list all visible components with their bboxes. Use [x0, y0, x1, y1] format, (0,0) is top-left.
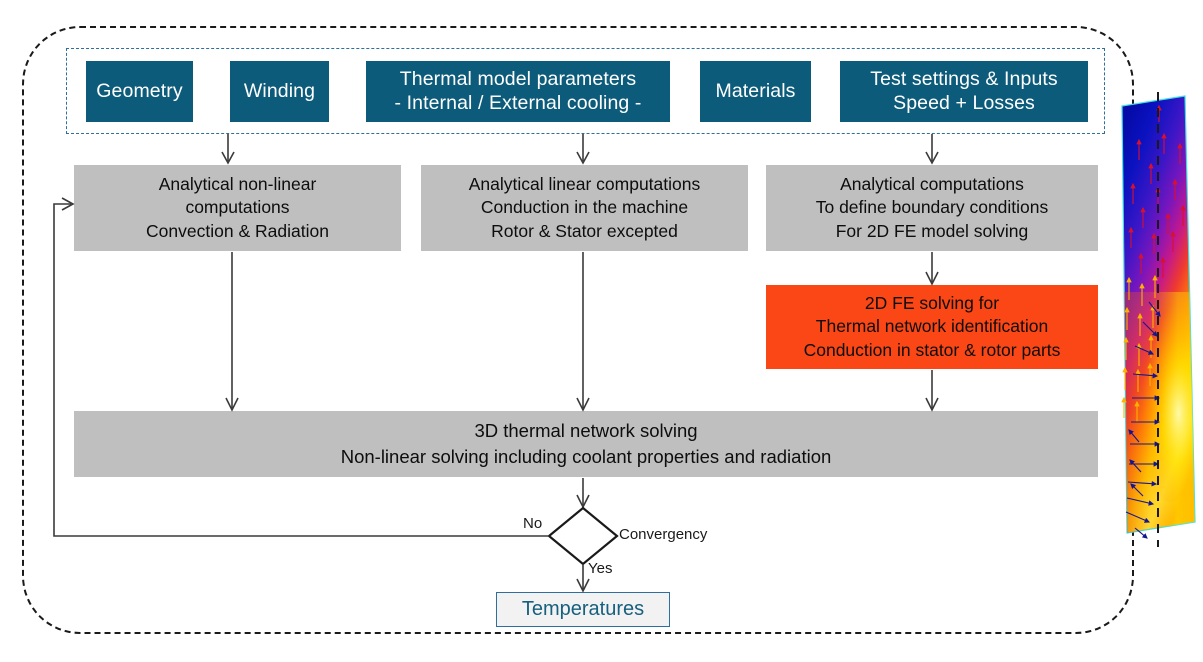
analytical-non-linear-line-1: Analytical non-linear — [159, 173, 317, 196]
analytical-linear-line-2: Conduction in the machine — [481, 196, 688, 219]
decision-label-convergency: Convergency — [619, 526, 707, 543]
analytical-linear-line-3: Rotor & Stator excepted — [491, 220, 678, 243]
diagram-canvas: Geometry Winding Thermal model parameter… — [0, 0, 1203, 662]
fe-solving-line-3: Conduction in stator & rotor parts — [804, 339, 1061, 362]
analytical-boundary-line-1: Analytical computations — [840, 173, 1024, 196]
analytical-boundary-line-2: To define boundary conditions — [816, 196, 1049, 219]
input-box-winding[interactable]: Winding — [230, 61, 329, 122]
fe-solving-line-1: 2D FE solving for — [865, 292, 999, 315]
thermal-model-parameters-line-1: Thermal model parameters — [400, 68, 637, 92]
analytical-boundary-line-3: For 2D FE model solving — [836, 220, 1029, 243]
network-solver-line-1: 3D thermal network solving — [474, 418, 697, 444]
analytical-non-linear-line-3: Convection & Radiation — [146, 220, 329, 243]
input-box-materials[interactable]: Materials — [700, 61, 811, 122]
process-box-analytical-linear[interactable]: Analytical linear computations Conductio… — [421, 165, 748, 251]
input-box-geometry[interactable]: Geometry — [86, 61, 193, 122]
analytical-non-linear-line-2: computations — [185, 196, 289, 219]
test-settings-line-1: Test settings & Inputs — [870, 68, 1058, 92]
input-box-materials-label: Materials — [715, 80, 795, 104]
thermal-model-parameters-line-2: - Internal / External cooling - — [395, 92, 642, 116]
result-box-temperatures-label: Temperatures — [522, 598, 644, 621]
process-box-analytical-non-linear[interactable]: Analytical non-linear computations Conve… — [74, 165, 401, 251]
fe-solving-line-2: Thermal network identification — [816, 315, 1048, 338]
input-box-test-settings[interactable]: Test settings & Inputs Speed + Losses — [840, 61, 1088, 122]
test-settings-line-2: Speed + Losses — [893, 92, 1035, 116]
fe-thermal-field-image — [1113, 92, 1203, 547]
input-box-winding-label: Winding — [244, 80, 315, 104]
input-box-geometry-label: Geometry — [96, 80, 182, 104]
network-solver-line-2: Non-linear solving including coolant pro… — [341, 444, 832, 470]
process-box-analytical-boundary[interactable]: Analytical computations To define bounda… — [766, 165, 1098, 251]
result-box-temperatures[interactable]: Temperatures — [496, 592, 670, 627]
process-box-3d-thermal-network-solving[interactable]: 3D thermal network solving Non-linear so… — [74, 411, 1098, 477]
decision-label-no: No — [523, 515, 542, 532]
process-box-2d-fe-solving[interactable]: 2D FE solving for Thermal network identi… — [766, 285, 1098, 369]
decision-label-yes: Yes — [588, 560, 612, 577]
input-box-thermal-model-parameters[interactable]: Thermal model parameters - Internal / Ex… — [366, 61, 670, 122]
analytical-linear-line-1: Analytical linear computations — [469, 173, 701, 196]
